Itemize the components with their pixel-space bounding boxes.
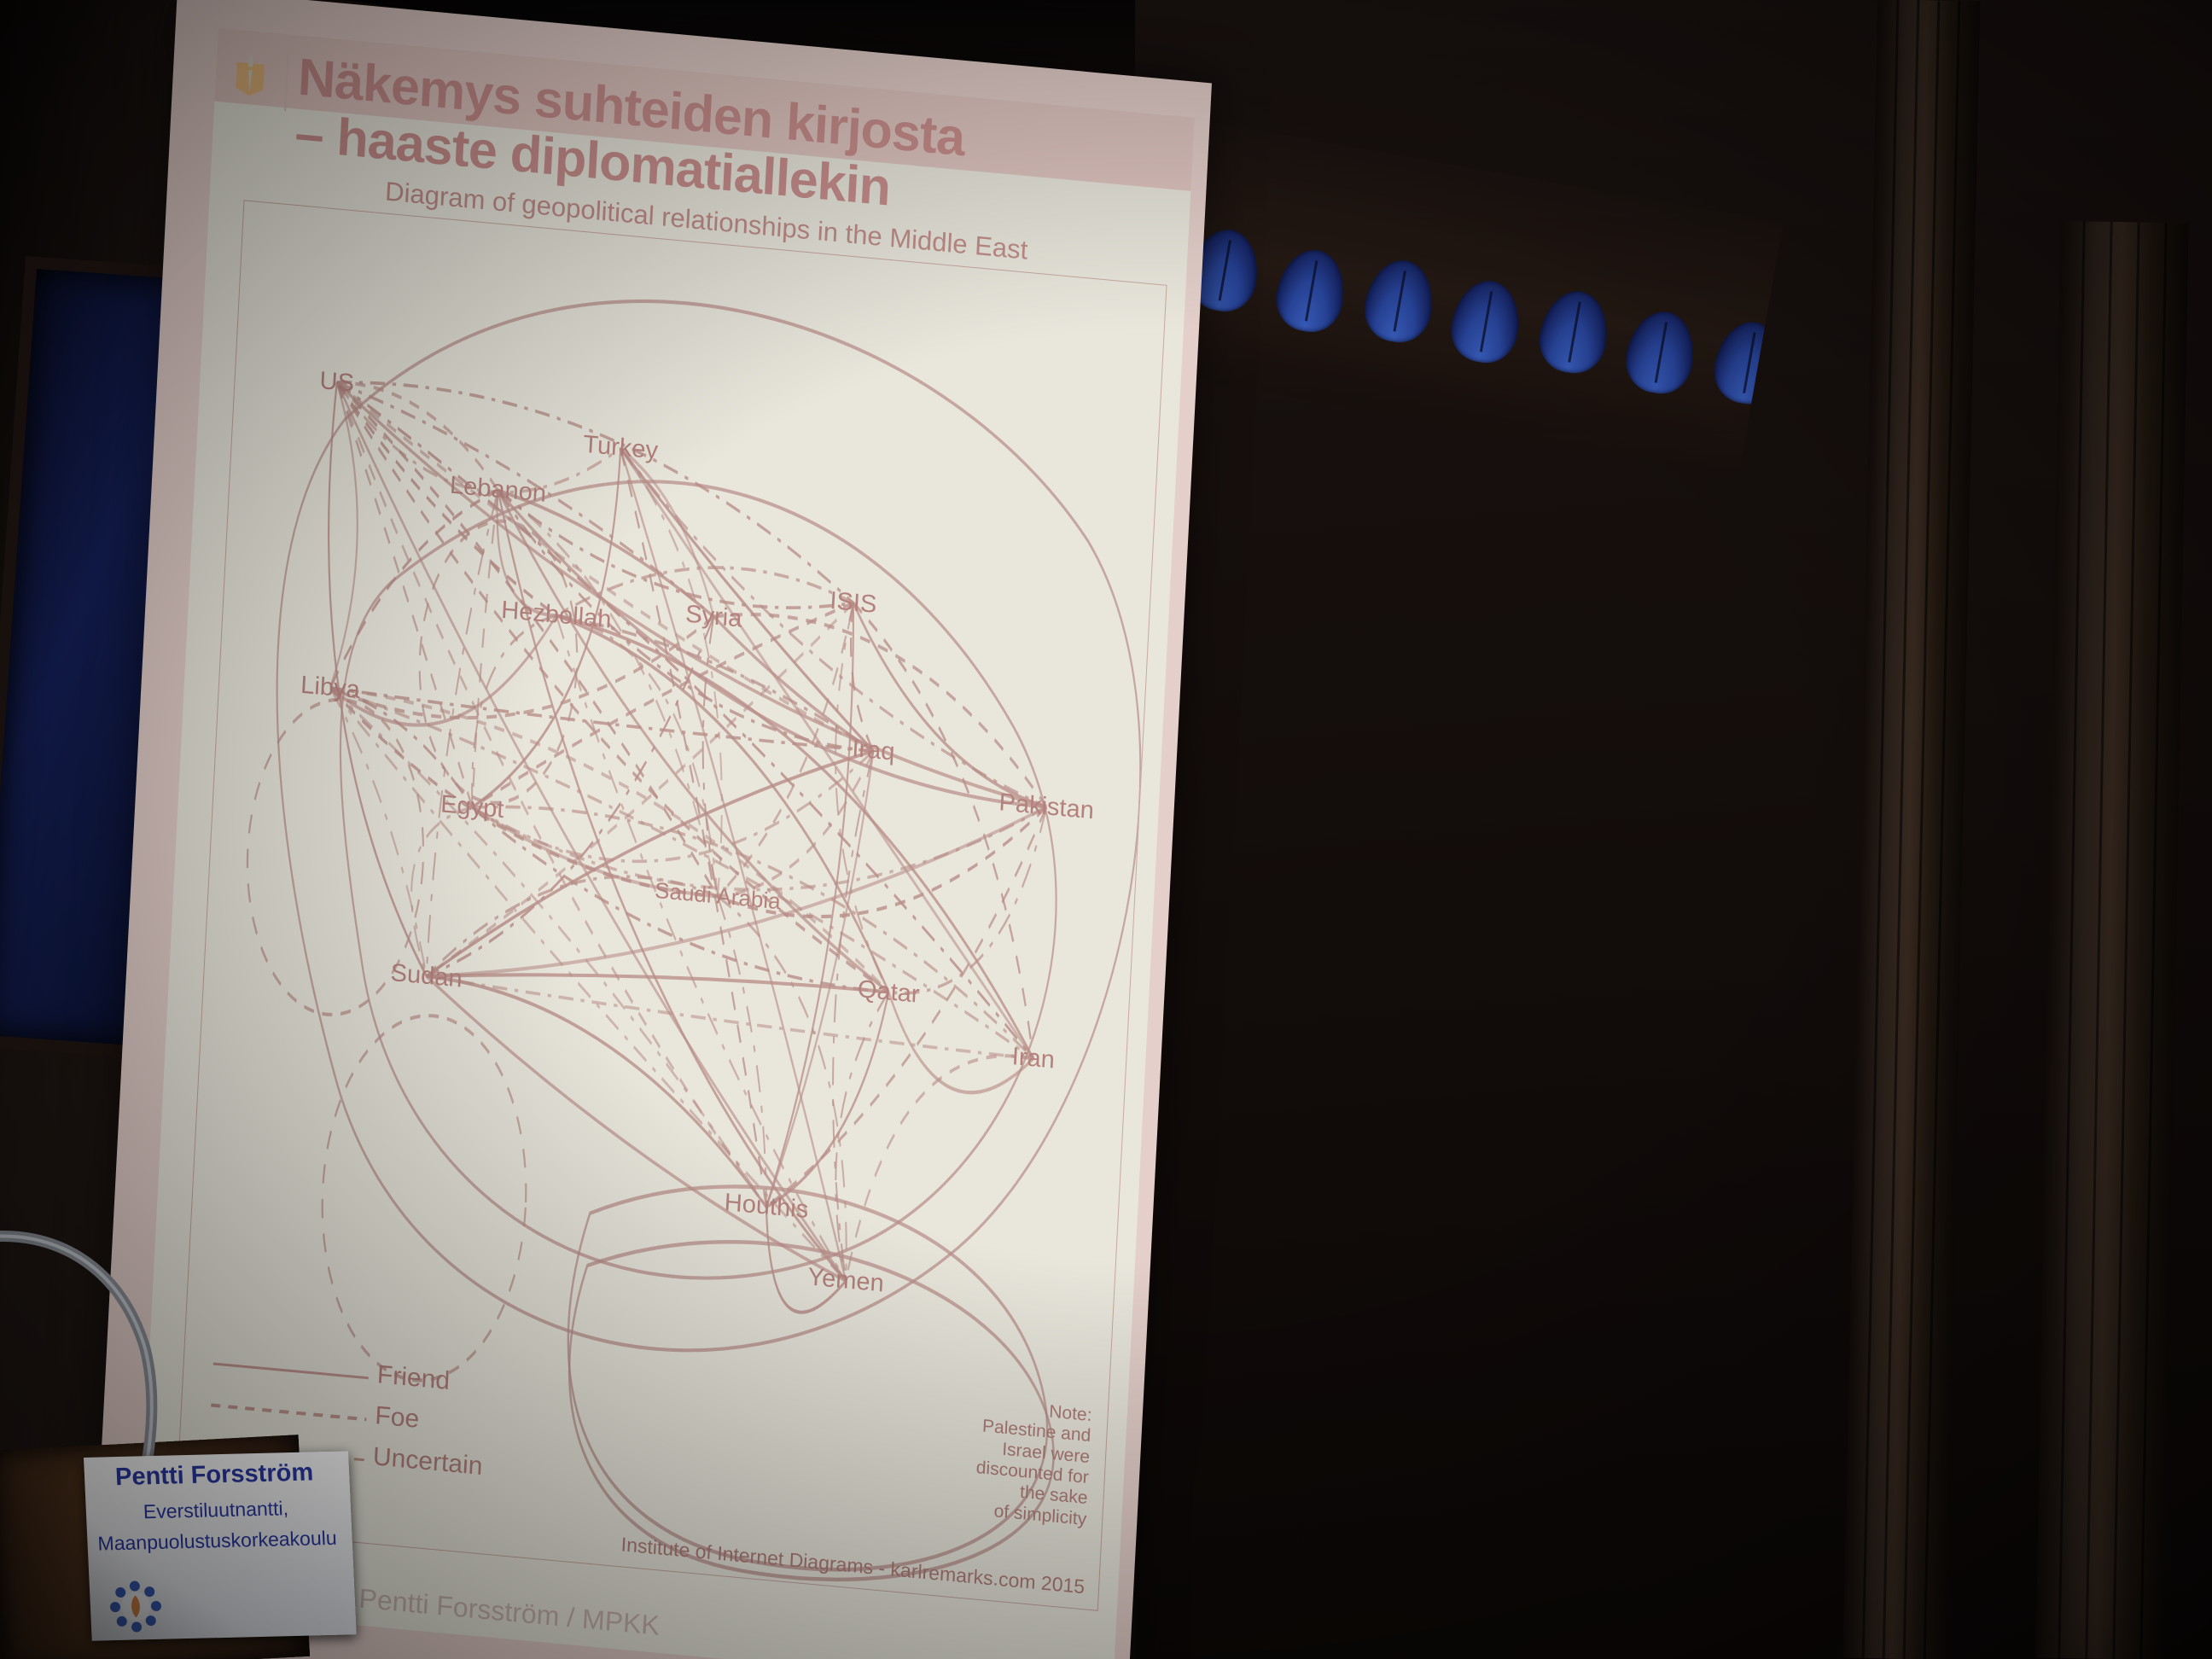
legend-label-friend: Friend <box>376 1360 451 1396</box>
relationship-edge <box>701 897 782 1208</box>
relationship-edge <box>416 976 777 1208</box>
relationship-edge <box>314 688 1049 1058</box>
node-label-qatar: Qatar <box>857 975 920 1010</box>
node-label-us: US <box>319 367 355 399</box>
relationship-edge <box>579 448 888 1281</box>
relationship-edge <box>888 794 1046 1006</box>
mpkk-seal-icon <box>108 1580 164 1633</box>
relationship-edge <box>766 982 888 1218</box>
relationship-loop <box>313 1006 535 1389</box>
node-label-isis: ISIS <box>829 586 878 619</box>
relationship-edge <box>472 490 498 808</box>
microphone-gooseneck <box>0 1203 256 1485</box>
mpkk-crest-icon <box>230 51 271 99</box>
palmette-ornament <box>1621 306 1700 399</box>
relationship-edge <box>536 615 1054 1058</box>
placard-rank: Everstiluutnantti, <box>85 1496 346 1525</box>
footer-text: Evl Pentti Forsström / MPKK <box>312 1579 660 1642</box>
slide-surface: Näkemys suhteiden kirjosta – haaste dipl… <box>91 0 1212 1659</box>
relationship-loop <box>413 514 585 810</box>
relationship-edge <box>407 802 472 980</box>
palmette-ornament <box>1271 245 1350 337</box>
note-box: Note: Palestine and Israel were discount… <box>924 1390 1093 1530</box>
relationship-edge <box>492 491 719 617</box>
fluted-column-2 <box>2035 221 2188 1659</box>
node-label-libya: Libya <box>300 671 360 704</box>
relationship-edge <box>823 602 908 992</box>
node-label-egypt: Egypt <box>439 790 504 824</box>
palmette-ornament <box>1446 276 1525 368</box>
relationship-edge <box>425 976 1034 1059</box>
relationship-edge <box>591 448 1062 1058</box>
placard-name: Pentti Forsström <box>84 1458 344 1493</box>
relationship-loop <box>243 267 1163 1390</box>
lecture-hall-photo: Näkemys suhteiden kirjosta – haaste dipl… <box>0 0 2212 1659</box>
projection-screen: Näkemys suhteiden kirjosta – haaste dipl… <box>91 0 1212 1659</box>
node-label-syria: Syria <box>684 600 742 633</box>
name-placard: Pentti Forsström Everstiluutnantti, Maan… <box>84 1451 357 1640</box>
placard-org: Maanpuolustuskorkeakoulu <box>87 1526 347 1555</box>
relationship-edge <box>330 476 498 702</box>
diagram-frame: Diagram of geopolitical relationships in… <box>175 200 1167 1611</box>
node-label-iraq: Iraq <box>852 735 896 767</box>
node-label-iran: Iran <box>1011 1043 1056 1075</box>
palmette-ornament <box>1534 286 1614 378</box>
slide-content: Näkemys suhteiden kirjosta – haaste dipl… <box>137 28 1195 1659</box>
relationship-edge <box>718 737 873 910</box>
palmette-ornament <box>1359 255 1439 347</box>
legend-label-foe: Foe <box>375 1401 420 1435</box>
